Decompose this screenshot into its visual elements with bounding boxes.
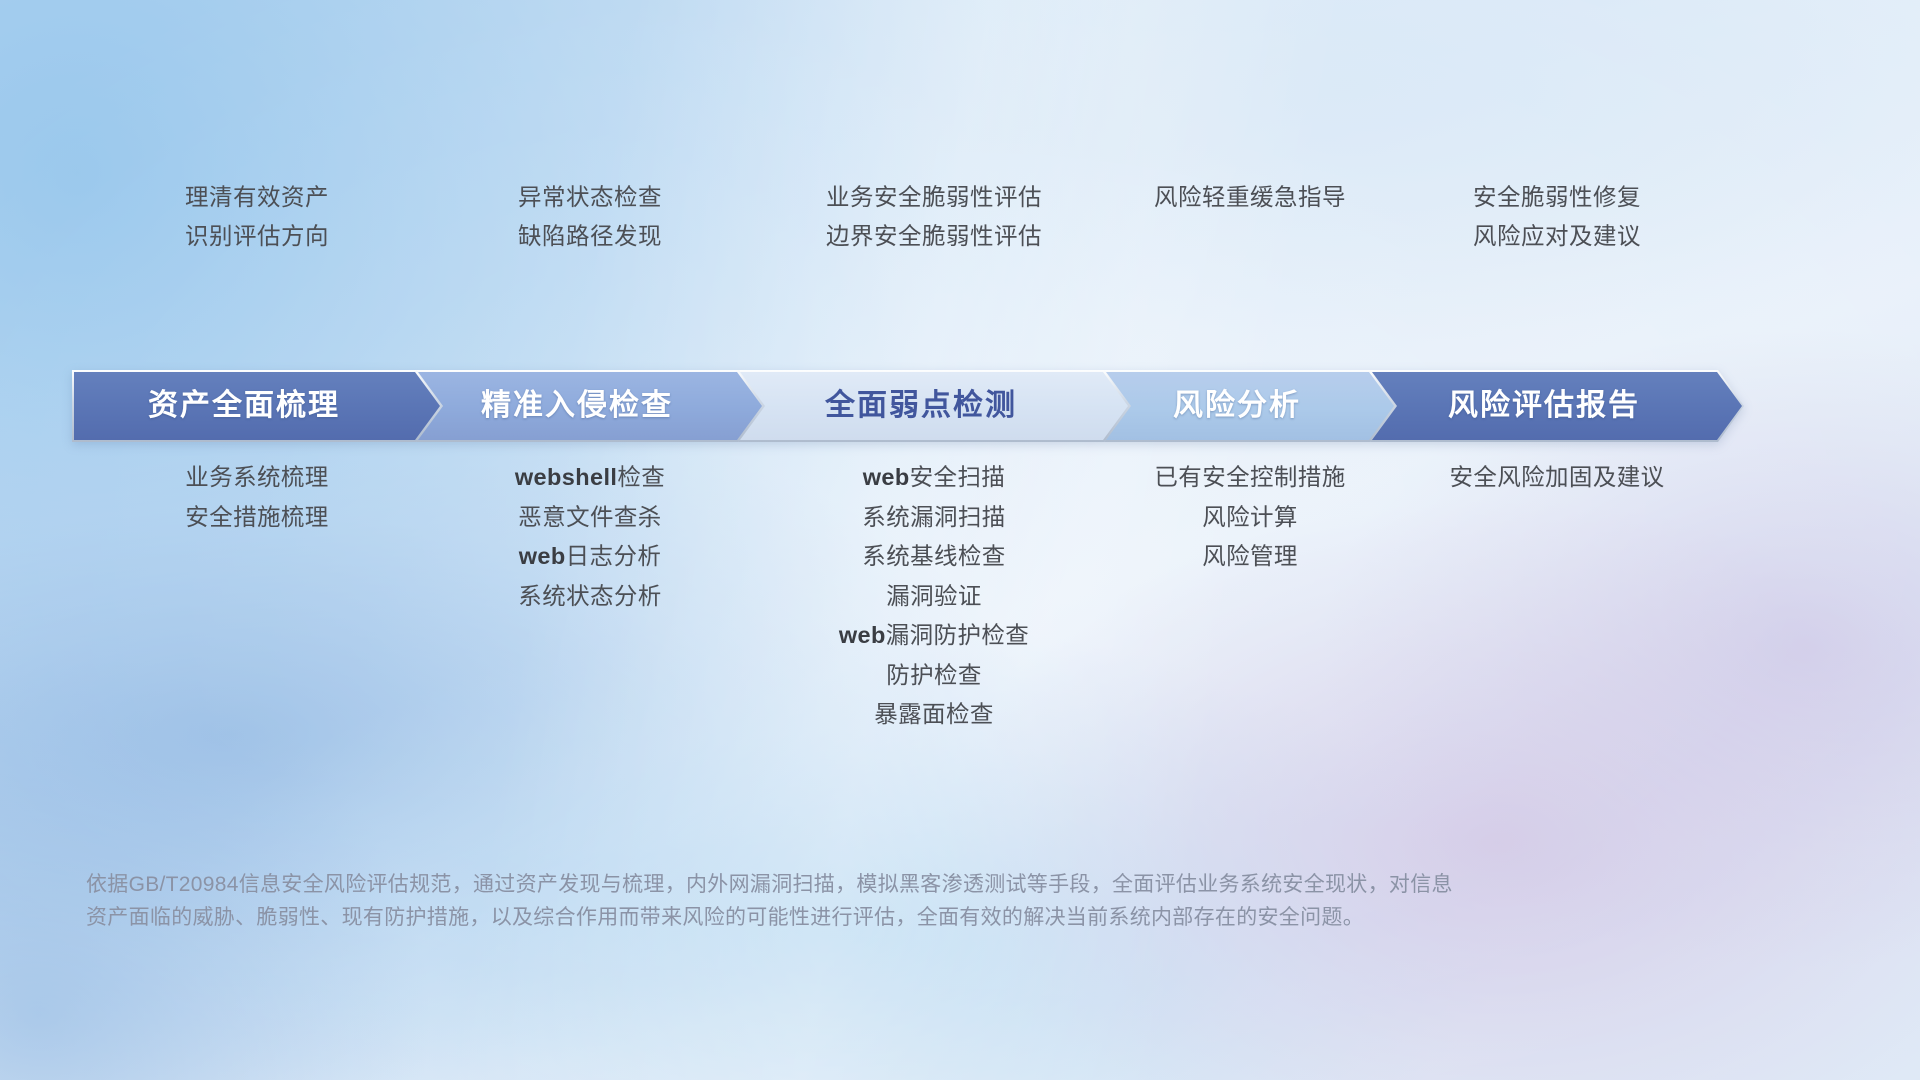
top-caption-line: 识别评估方向 <box>185 221 329 251</box>
top-caption-line: 业务安全脆弱性评估 <box>826 182 1042 212</box>
list-item: web漏洞防护检查 <box>839 620 1029 651</box>
list-item-text: 日志分析 <box>566 543 662 569</box>
process-chevron-banner: 资产全面梳理精准入侵检查全面弱点检测风险分析风险评估报告 <box>72 370 1848 442</box>
list-item: 已有安全控制措施 <box>1154 462 1345 493</box>
list-item: 漏洞验证 <box>886 581 982 612</box>
list-item-keyword: web <box>863 464 910 490</box>
top-caption-line: 安全脆弱性修复 <box>1473 182 1641 212</box>
process-step-asset-inventory[interactable]: 资产全面梳理 <box>72 370 442 442</box>
top-caption-line: 异常状态检查 <box>518 182 662 212</box>
list-item: web日志分析 <box>519 541 662 572</box>
slide-canvas: 理清有效资产识别评估方向异常状态检查缺陷路径发现业务安全脆弱性评估边界安全脆弱性… <box>0 0 1920 1080</box>
items-column-risk-report: 安全风险加固及建议 <box>1337 462 1777 493</box>
top-caption-line: 风险轻重缓急指导 <box>1154 182 1346 212</box>
step-title: 精准入侵检查 <box>416 391 764 421</box>
step-title: 风险分析 <box>1104 391 1396 421</box>
list-item-keyword: web <box>519 543 566 569</box>
step-title: 全面弱点检测 <box>738 391 1130 421</box>
process-step-risk-analysis[interactable]: 风险分析 <box>1104 370 1396 442</box>
list-item-keyword: web <box>839 622 886 648</box>
top-caption-line: 风险应对及建议 <box>1473 221 1641 251</box>
list-item: 暴露面检查 <box>874 699 994 730</box>
list-item: 风险管理 <box>1202 541 1298 572</box>
list-item: 防护检查 <box>886 660 982 691</box>
list-item: 系统基线检查 <box>862 541 1005 572</box>
top-captions-row: 理清有效资产识别评估方向异常状态检查缺陷路径发现业务安全脆弱性评估边界安全脆弱性… <box>0 182 1920 272</box>
process-step-intrusion-check[interactable]: 精准入侵检查 <box>416 370 764 442</box>
list-item-text: 检查 <box>617 464 665 490</box>
list-item: 业务系统梳理 <box>185 462 328 493</box>
list-item: web安全扫描 <box>863 462 1006 493</box>
list-item-text: 漏洞防护检查 <box>886 622 1029 648</box>
list-item: 风险计算 <box>1202 502 1298 533</box>
list-item-text: 安全扫描 <box>910 464 1006 490</box>
process-step-risk-report[interactable]: 风险评估报告 <box>1370 370 1744 442</box>
step-title: 风险评估报告 <box>1370 391 1744 421</box>
list-item: 安全风险加固及建议 <box>1449 462 1664 493</box>
list-item: 安全措施梳理 <box>185 502 328 533</box>
top-caption-line: 理清有效资产 <box>185 182 329 212</box>
list-item: webshell检查 <box>515 462 665 493</box>
list-item: 恶意文件查杀 <box>518 502 661 533</box>
footer-line-2: 资产面临的威胁、脆弱性、现有防护措施，以及综合作用而带来风险的可能性进行评估，全… <box>86 901 1746 934</box>
process-step-weakness-detection[interactable]: 全面弱点检测 <box>738 370 1130 442</box>
footer-description: 依据GB/T20984信息安全风险评估规范，通过资产发现与梳理，内外网漏洞扫描，… <box>86 868 1746 934</box>
footer-line-1: 依据GB/T20984信息安全风险评估规范，通过资产发现与梳理，内外网漏洞扫描，… <box>86 868 1746 901</box>
top-caption-column-risk-report: 安全脆弱性修复风险应对及建议 <box>1337 182 1777 251</box>
list-item: 系统漏洞扫描 <box>862 502 1005 533</box>
list-item-keyword: webshell <box>515 464 617 490</box>
step-title: 资产全面梳理 <box>72 391 442 421</box>
top-caption-line: 边界安全脆弱性评估 <box>826 221 1042 251</box>
list-item: 系统状态分析 <box>518 581 661 612</box>
top-caption-line: 缺陷路径发现 <box>518 221 662 251</box>
